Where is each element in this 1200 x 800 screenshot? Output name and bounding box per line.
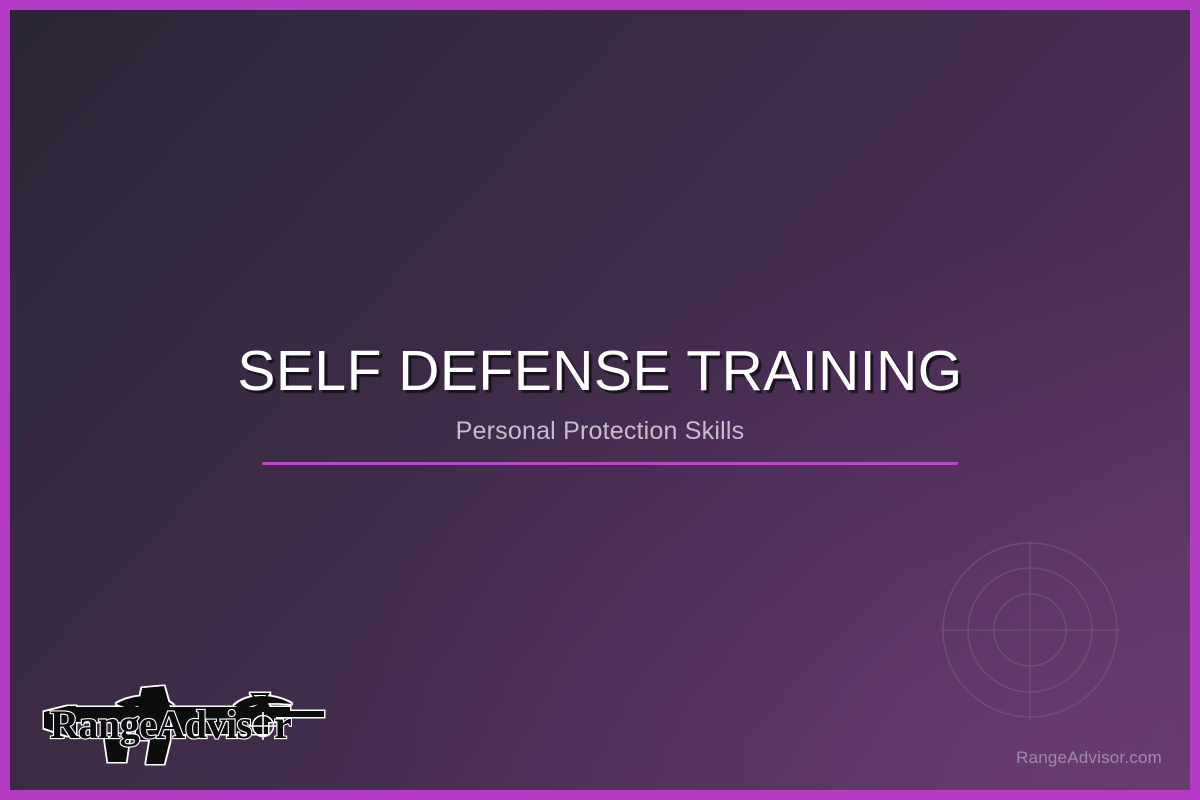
presentation-slide: SELF DEFENSE TRAINING Personal Protectio… bbox=[0, 0, 1200, 800]
slide-subtitle: Personal Protection Skills bbox=[10, 402, 1190, 446]
slide-text-block: SELF DEFENSE TRAINING Personal Protectio… bbox=[10, 340, 1190, 446]
crosshair-target-icon bbox=[920, 520, 1140, 740]
logo-wordmark-tail: r bbox=[274, 702, 292, 747]
brand-logo: RangeAdvis r bbox=[38, 676, 328, 774]
title-divider-rule bbox=[262, 462, 958, 465]
logo-wordmark: RangeAdvis bbox=[50, 702, 252, 747]
page-title: SELF DEFENSE TRAINING bbox=[10, 340, 1190, 402]
footer-website-url: RangeAdvisor.com bbox=[1016, 748, 1162, 768]
